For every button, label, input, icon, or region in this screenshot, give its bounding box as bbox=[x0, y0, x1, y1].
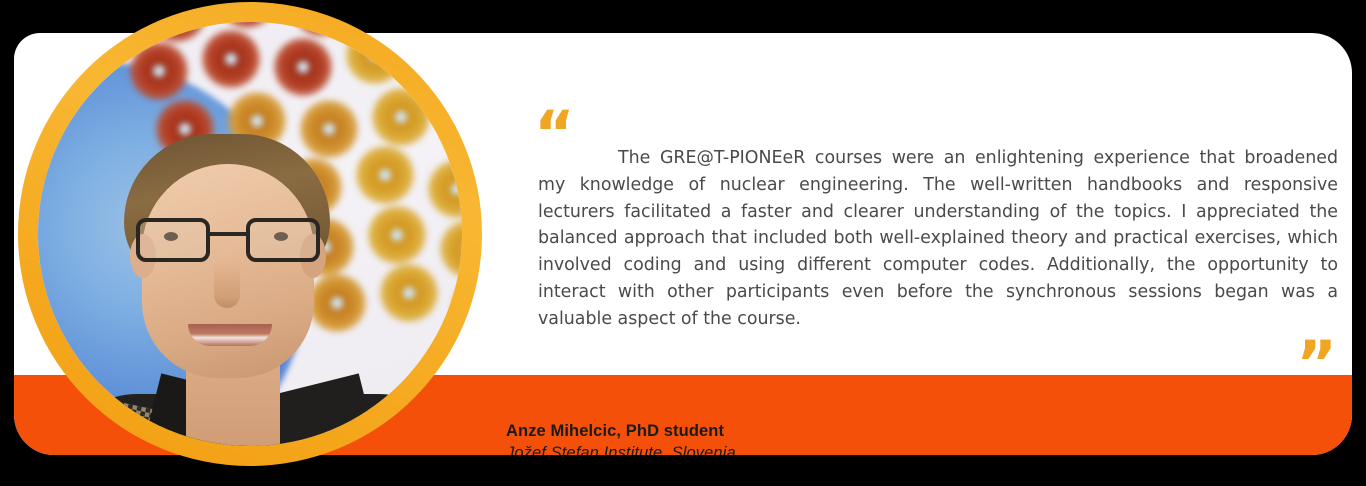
subject-mouth bbox=[188, 324, 272, 346]
subject-glasses bbox=[134, 218, 322, 264]
testimonial-quote-text: The GRE@T-PIONEeR courses were an enligh… bbox=[538, 145, 1338, 333]
quote-block: “ The GRE@T-PIONEeR courses were an enli… bbox=[524, 85, 1344, 375]
attribution: Anze Mihelcic, PhD student Jožef Stefan … bbox=[506, 421, 1206, 455]
portrait-subject bbox=[38, 22, 462, 446]
attribution-organization: Jožef Stefan Institute, Slovenia bbox=[506, 442, 1206, 455]
attribution-name: Anze Mihelcic, PhD student bbox=[506, 421, 1206, 442]
testimonial-card-stage: “ The GRE@T-PIONEeR courses were an enli… bbox=[0, 0, 1366, 486]
avatar-photo-frame bbox=[38, 22, 462, 446]
subject-nose bbox=[214, 262, 240, 308]
portrait-photo bbox=[38, 22, 462, 446]
avatar bbox=[18, 2, 482, 466]
